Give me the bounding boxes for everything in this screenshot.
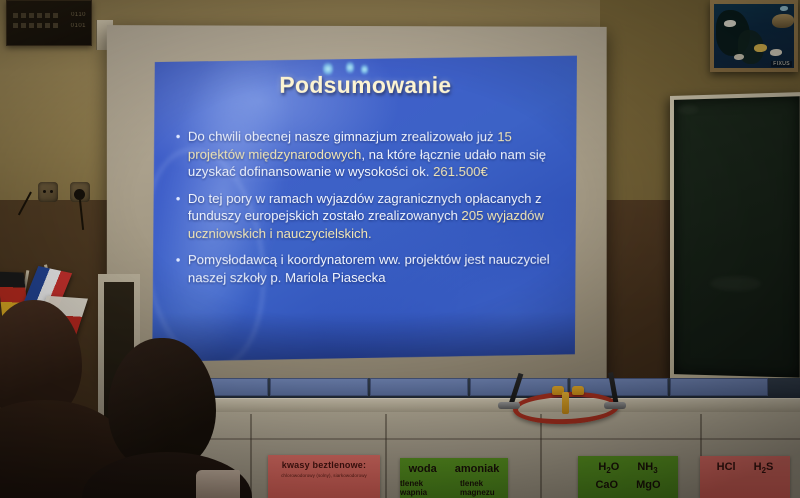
clamp-stand-base — [498, 402, 520, 409]
blue-panel — [270, 378, 368, 396]
projection-screen: Podsumowanie • Do chwili obecnej nasze g… — [107, 25, 607, 385]
chem-card-woda-amoniak: woda amoniak tlenek wapnia tlenek magnez… — [400, 458, 508, 498]
panel-label-bottom: 0101 — [71, 23, 86, 29]
chem-term: amoniak — [455, 463, 500, 475]
chem-term: tlenek wapnia — [400, 479, 442, 497]
slide-bullet-text: Pomysłodawcą i koordynatorem ww. projekt… — [188, 251, 558, 286]
panel-switch[interactable] — [45, 13, 50, 18]
panel-switch[interactable] — [21, 13, 26, 18]
blue-panel — [370, 378, 468, 396]
cabinet-seam — [130, 438, 800, 440]
projected-slide: Podsumowanie • Do chwili obecnej nasze g… — [152, 54, 577, 361]
burner-knob[interactable] — [572, 386, 584, 395]
bullet-dot-icon: • — [176, 252, 188, 287]
panel-switch[interactable] — [13, 23, 18, 28]
poster-image: FIXUS — [714, 4, 794, 68]
panel-switch[interactable] — [45, 23, 50, 28]
bullet-dot-icon: • — [176, 128, 188, 181]
chalk-smudge — [678, 105, 698, 114]
panel-switch[interactable] — [29, 13, 34, 18]
blue-panel — [670, 378, 768, 396]
fish-icon — [734, 54, 744, 60]
panel-label-top: 0110 — [71, 12, 86, 18]
chem-card-subtitle: chlorowodorowy (solny), siarkowodorowy — [281, 473, 367, 478]
socket-hole — [43, 190, 46, 193]
chem-card-row1: HCl H2S — [717, 461, 774, 475]
classroom-scene: 0110 0101 FIXUS — [0, 0, 800, 498]
chalk-smudge — [710, 276, 761, 291]
chem-formula: HCl — [717, 461, 736, 475]
chem-formula: CaO — [595, 479, 618, 491]
cabinet-seam — [250, 414, 252, 498]
fish-icon — [780, 6, 788, 11]
chem-card-title: kwasy beztlenowe: — [282, 460, 366, 470]
aquarium-poster: FIXUS — [710, 0, 798, 72]
panel-switch[interactable] — [53, 13, 58, 18]
panel-switch[interactable] — [13, 13, 18, 18]
chem-formula: MgO — [636, 479, 660, 491]
chem-term: tlenek magnezu — [460, 479, 508, 497]
chalkboard-surface — [674, 96, 800, 377]
panel-switch-row-1 — [13, 13, 58, 18]
cabinet-seam — [385, 414, 387, 498]
slide-bullet-item: • Do tej pory w ramach wyjazdów zagranic… — [176, 190, 558, 243]
socket-hole — [50, 190, 53, 193]
panel-switch[interactable] — [21, 23, 26, 28]
slide-bullet-text: Do chwili obecnej nasze gimnazjum zreali… — [188, 128, 558, 181]
slide-bullet-list: • Do chwili obecnej nasze gimnazjum zrea… — [176, 128, 558, 296]
slide-bullet-item: • Pomysłodawcą i koordynatorem ww. proje… — [176, 251, 558, 286]
chem-card-hcl-h2s: HCl H2S — [700, 456, 790, 498]
chem-term: woda — [409, 463, 437, 475]
fish-icon — [772, 14, 794, 28]
green-chalkboard — [670, 92, 800, 384]
fish-icon — [770, 49, 782, 56]
slide-bullet-item: • Do chwili obecnej nasze gimnazjum zrea… — [176, 128, 558, 181]
slide-background: Podsumowanie • Do chwili obecnej nasze g… — [152, 54, 577, 361]
chem-formula: H2S — [754, 461, 774, 475]
wall-control-panel[interactable]: 0110 0101 — [6, 0, 92, 46]
chem-card-row1: H2O NH3 — [598, 461, 657, 475]
panel-switch[interactable] — [29, 23, 34, 28]
socket-hole — [74, 189, 85, 200]
cabinet-seam — [540, 414, 542, 498]
chem-card-row2: CaO MgO — [595, 479, 660, 491]
chem-formula: NH3 — [637, 461, 657, 475]
chem-card-kwasy-beztlenowe: kwasy beztlenowe: chlorowodorowy (solny)… — [268, 455, 380, 498]
chem-formula: H2O — [598, 461, 619, 475]
clamp-stand-base — [604, 402, 626, 409]
panel-switch[interactable] — [37, 13, 42, 18]
bullet-dot-icon: • — [176, 190, 188, 243]
fish-icon — [724, 20, 736, 27]
wall-socket-left[interactable] — [38, 182, 58, 202]
poster-caption: FIXUS — [771, 61, 792, 67]
chem-card-row1: woda amoniak — [409, 463, 500, 475]
panel-switch[interactable] — [37, 23, 42, 28]
audience-clothing — [196, 470, 240, 498]
slide-title: Podsumowanie — [152, 71, 577, 99]
audience-head-center — [108, 338, 216, 470]
panel-switch-row-2 — [13, 23, 58, 28]
burner-barrel — [562, 392, 569, 414]
panel-switch[interactable] — [53, 23, 58, 28]
fish-icon — [754, 44, 767, 52]
chem-card-row2: tlenek wapnia tlenek magnezu — [400, 479, 508, 497]
slide-bullet-text: Do tej pory w ramach wyjazdów zagraniczn… — [188, 190, 558, 243]
chem-card-h2o-nh3: H2O NH3 CaO MgO — [578, 456, 678, 498]
